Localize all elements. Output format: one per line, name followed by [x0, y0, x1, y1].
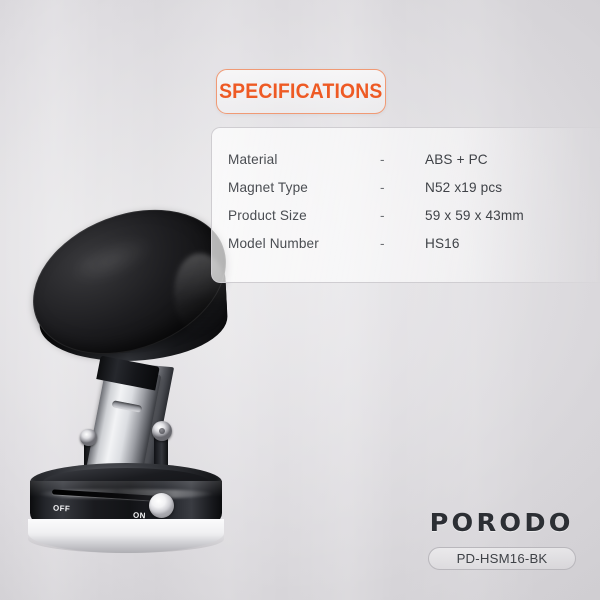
product-base: OFF ON — [30, 463, 222, 553]
table-row: Model Number - HS16 — [228, 230, 568, 258]
spec-dash: - — [380, 236, 425, 251]
specifications-table: Material - ABS + PC Magnet Type - N52 x1… — [228, 145, 568, 258]
spec-dash: - — [380, 208, 425, 223]
switch-off-label: OFF — [53, 504, 71, 514]
spec-value: N52 x19 pcs — [425, 180, 502, 195]
table-row: Product Size - 59 x 59 x 43mm — [228, 201, 568, 229]
arm-pivot-right-icon — [152, 421, 172, 441]
power-switch-knob[interactable] — [149, 493, 174, 518]
spec-label: Model Number — [228, 236, 380, 251]
porodo-logo: PORODO — [430, 508, 574, 537]
model-code-label: PD-HSM16-BK — [457, 551, 548, 566]
specifications-title-pill: SPECIFICATIONS — [216, 69, 386, 114]
model-code-badge: PD-HSM16-BK — [428, 547, 576, 570]
table-row: Material - ABS + PC — [228, 145, 568, 173]
spec-value: ABS + PC — [425, 152, 488, 167]
table-row: Magnet Type - N52 x19 pcs — [228, 173, 568, 201]
brand-block: PORODO PD-HSM16-BK — [428, 508, 576, 570]
spec-dash: - — [380, 152, 425, 167]
arm-pivot-left-icon — [80, 429, 97, 446]
spec-label: Magnet Type — [228, 180, 380, 195]
base-ring-shading — [28, 535, 224, 553]
page-title: SPECIFICATIONS — [219, 79, 382, 104]
product-spec-banner: OFF ON Material - ABS + PC Magnet Type -… — [0, 0, 600, 600]
spec-label: Material — [228, 152, 380, 167]
spec-value: HS16 — [425, 236, 460, 251]
spec-value: 59 x 59 x 43mm — [425, 208, 524, 223]
spec-dash: - — [380, 180, 425, 195]
spec-label: Product Size — [228, 208, 380, 223]
